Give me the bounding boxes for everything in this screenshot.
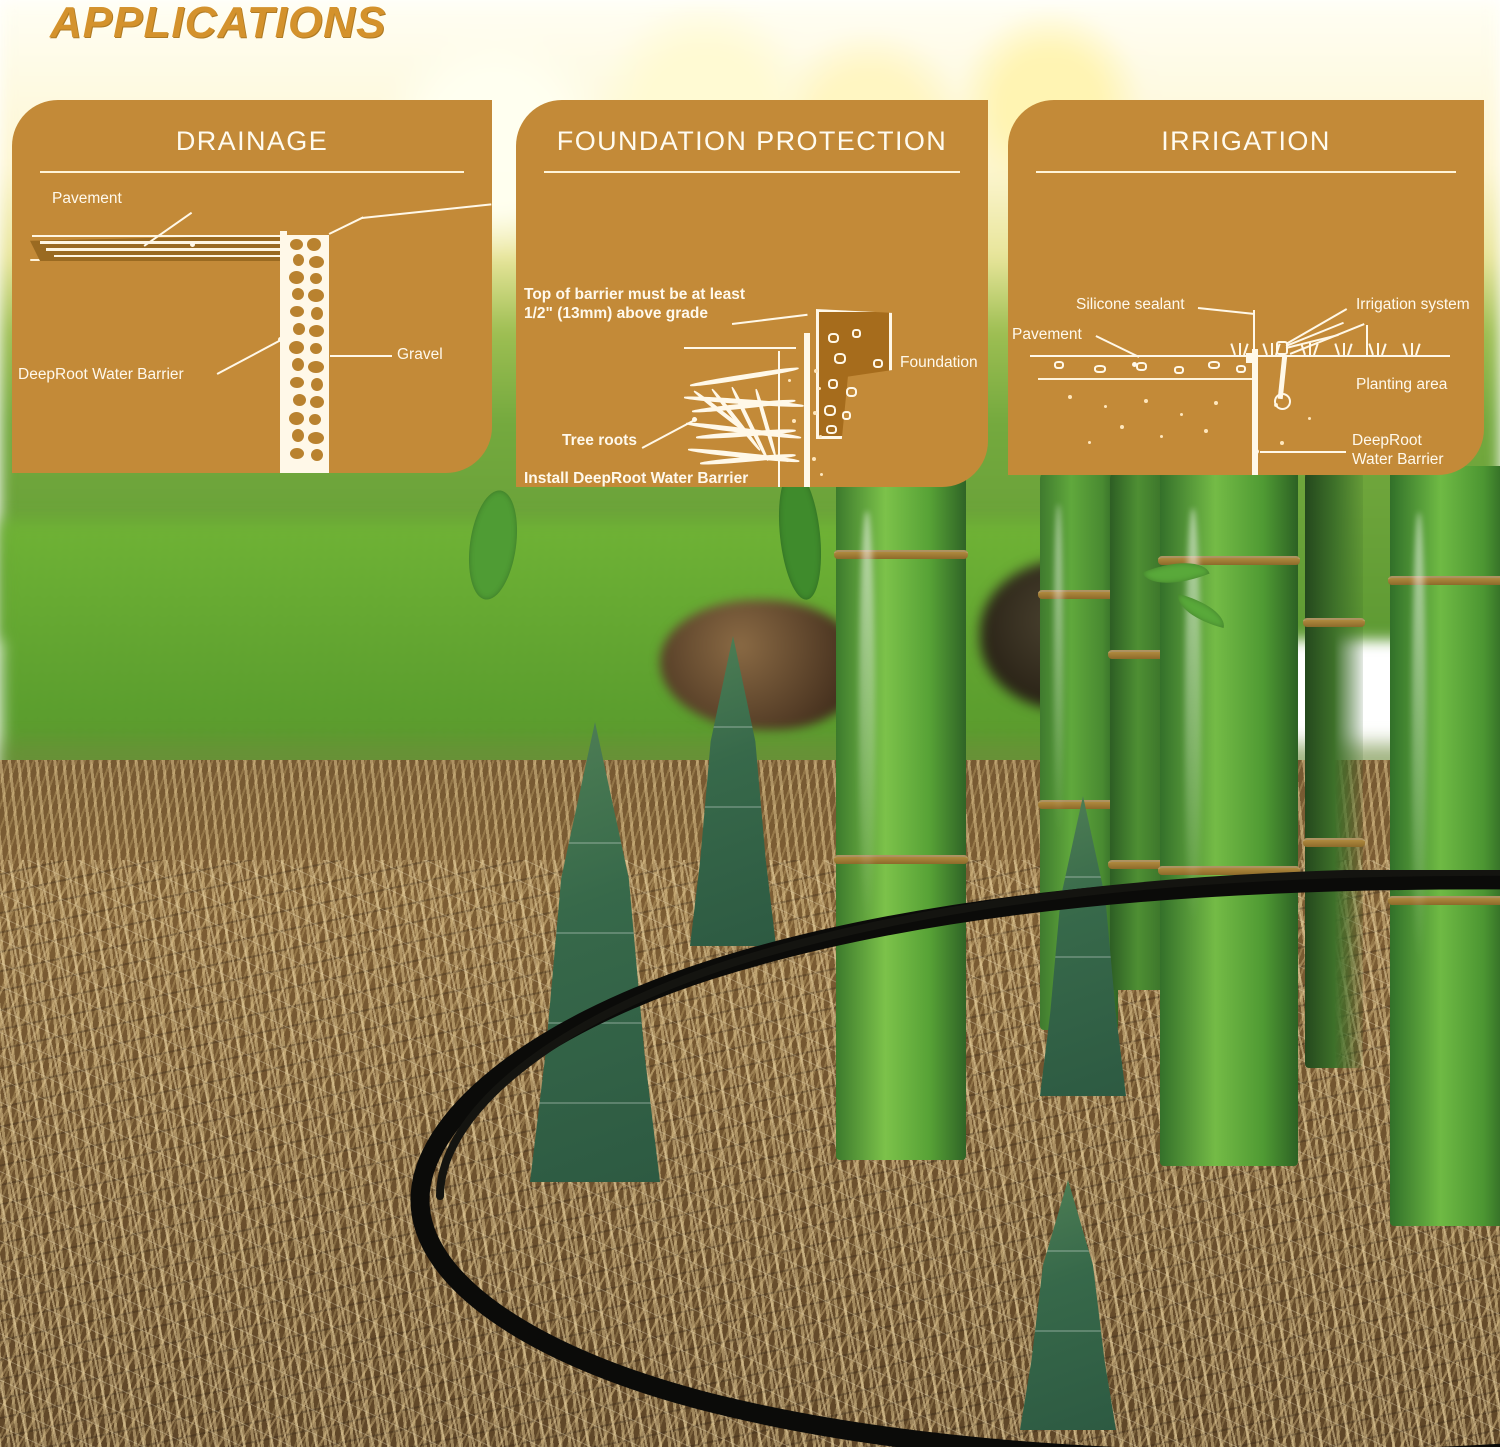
applications-panel-group: DRAINAGE — [0, 0, 1500, 500]
label-pavement: Pavement — [1012, 325, 1082, 344]
panel-drainage: DRAINAGE — [12, 100, 492, 473]
tree-roots-leader — [642, 418, 697, 449]
label-top-of-barrier: Top of barrier must be at least 1/2" (13… — [524, 285, 745, 324]
soil-speck — [1104, 405, 1107, 408]
silicone-leader — [1198, 307, 1254, 314]
label-silicone-sealant: Silicone sealant — [1076, 295, 1185, 314]
grade-line — [1030, 355, 1450, 357]
soil-speck — [1160, 435, 1163, 438]
label-install-note: Install DeepRoot Water Barrier next to f… — [524, 469, 748, 487]
irrigation-diagram: Silicone sealant Pavement Irrigation sys… — [1008, 173, 1484, 475]
soil-speck — [1120, 425, 1124, 429]
soil-speck — [792, 419, 796, 423]
pavement-leader-dot — [190, 242, 195, 247]
pavement-layer — [46, 248, 280, 251]
aggregate-speck — [824, 405, 836, 416]
label-tree-roots: Tree roots — [562, 431, 637, 450]
panel-title-irrigation: IRRIGATION — [1008, 100, 1484, 157]
soil-speck — [818, 387, 821, 390]
soil-speck — [1144, 399, 1148, 403]
gravel-fill — [287, 235, 329, 473]
pavement-layer — [54, 255, 280, 257]
soil-speck — [1180, 413, 1183, 416]
soil-speck — [1214, 401, 1218, 405]
label-water-barrier: DeepRoot Water Barrier — [18, 365, 184, 384]
pavement-layer — [40, 241, 280, 244]
pavement-aggregate — [1136, 362, 1147, 371]
panel-foundation-protection: FOUNDATION PROTECTION — [516, 100, 988, 487]
barrier-leader — [217, 339, 281, 374]
sprinkler-base-ring — [1274, 393, 1291, 410]
panel-title-drainage: DRAINAGE — [12, 100, 492, 157]
label-planting-area: Planting area — [1356, 375, 1447, 394]
soil-speck — [814, 369, 818, 373]
label-water-barrier: DeepRoot Water Barrier — [1352, 431, 1444, 470]
soil-speck — [820, 473, 823, 476]
water-barrier-strip — [280, 231, 287, 473]
aggregate-speck — [826, 425, 837, 434]
foundation-diagram: Top of barrier must be at least 1/2" (13… — [516, 173, 988, 487]
pavement-aggregate — [1208, 361, 1220, 369]
pavement-aggregate — [1094, 365, 1106, 373]
grass-tuft — [1372, 343, 1383, 355]
pavement-leader-dot — [1132, 362, 1137, 367]
water-barrier-strip — [1252, 349, 1258, 475]
pavement-aggregate — [1174, 366, 1184, 374]
pavement-underside — [1038, 378, 1258, 380]
water-barrier-strip — [804, 333, 810, 487]
soil-speck — [1088, 441, 1091, 444]
aggregate-speck — [828, 379, 838, 389]
grass-tuft — [1338, 343, 1349, 355]
label-gravel: Gravel — [397, 345, 443, 364]
grade-slope-line — [329, 216, 364, 234]
silicone-leader-drop — [1253, 310, 1255, 354]
gravel-leader — [330, 355, 392, 357]
soil-speck — [812, 457, 816, 461]
soil-speck — [1308, 417, 1311, 420]
aggregate-speck — [873, 359, 883, 368]
barrier-leader-dot — [1254, 449, 1259, 454]
soil-speck — [788, 379, 791, 382]
grass-tuft — [1234, 343, 1245, 355]
soil-speck — [1280, 441, 1284, 445]
panel-title-foundation: FOUNDATION PROTECTION — [516, 100, 988, 157]
grade-slope-line — [362, 203, 491, 218]
soil-speck — [813, 411, 817, 415]
grass-tuft — [1406, 343, 1417, 355]
bamboo-culm — [1390, 466, 1500, 1226]
tree-root — [690, 366, 799, 388]
soil-speck — [1068, 395, 1072, 399]
tree-roots-leader-dot — [692, 417, 697, 422]
silicone-sealant-bead — [1246, 353, 1258, 363]
aggregate-speck — [828, 333, 839, 343]
bamboo-culm — [1305, 468, 1363, 1068]
pavement-aggregate — [1236, 365, 1246, 373]
aggregate-speck — [852, 329, 861, 338]
barrier-leader-dot — [278, 337, 283, 342]
drainage-diagram: Pavement DeepRoot Water Barrier Gravel D… — [12, 173, 492, 473]
grade-line — [684, 347, 796, 349]
bamboo-culm — [836, 470, 966, 1160]
barrier-leader — [1260, 451, 1346, 453]
irrigation-system-leader-drop — [1366, 325, 1368, 357]
aggregate-speck — [834, 353, 846, 364]
aggregate-speck — [842, 411, 851, 420]
aggregate-speck — [846, 387, 857, 397]
soil-speck — [819, 435, 822, 438]
soil-speck — [1204, 429, 1208, 433]
label-irrigation-system: Irrigation system — [1356, 295, 1470, 314]
label-pavement: Pavement — [52, 189, 122, 208]
pavement-aggregate — [1054, 361, 1064, 369]
panel-irrigation: IRRIGATION — [1008, 100, 1484, 475]
label-foundation: Foundation — [900, 353, 978, 372]
